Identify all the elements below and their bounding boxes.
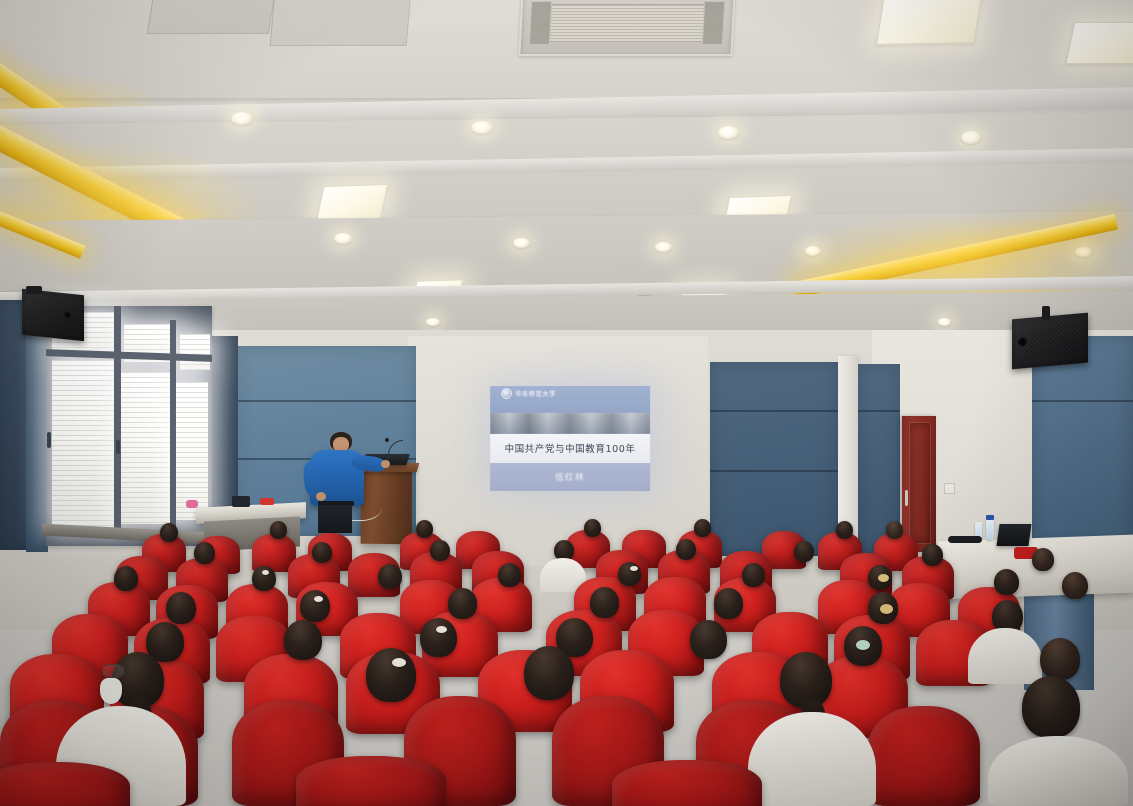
university-logo: 华东师范大学 [501, 388, 556, 399]
audience-head [994, 569, 1019, 595]
audience-head [836, 521, 853, 539]
audience-head [1040, 638, 1080, 680]
lecture-hall-photo: 华东师范大学 中国共产党与中国教育100年 伍红林 [0, 0, 1133, 806]
audience-head [1032, 548, 1054, 571]
audience-head [1062, 572, 1088, 599]
audience-head [714, 588, 743, 619]
hair-clip [392, 658, 406, 667]
panel-light [876, 0, 982, 45]
slide-photo-strip [490, 413, 650, 434]
table-item-pink [186, 500, 198, 508]
hair-scrunchie [880, 604, 893, 614]
downlight [426, 318, 440, 326]
ceiling-access-panel [270, 0, 412, 46]
audience-head [1022, 676, 1080, 738]
hair-clip [436, 626, 447, 633]
audience-head [794, 541, 814, 562]
audience-head [270, 521, 287, 539]
audience-head [420, 618, 457, 657]
panel-light [1066, 22, 1133, 64]
seat [868, 706, 980, 806]
downlight [655, 242, 672, 252]
slide-author: 伍红林 [555, 471, 585, 483]
audience-head [618, 562, 641, 586]
water-bottle [986, 518, 994, 540]
seat [0, 762, 130, 806]
downlight [805, 246, 821, 256]
audience-head [676, 539, 696, 560]
audience-head [742, 563, 765, 587]
microphone-head-icon [385, 438, 389, 442]
slide-title: 中国共产党与中国教育100年 [505, 441, 636, 455]
hair-clip [262, 570, 269, 575]
panel-light [316, 184, 388, 222]
audience-head [194, 542, 215, 564]
ceiling-access-panel [147, 0, 275, 34]
hair-scrunchie [878, 574, 889, 582]
audience-head [448, 588, 477, 619]
downlight [961, 131, 981, 144]
audience-head [886, 521, 903, 539]
window-handle[interactable] [47, 432, 51, 448]
slide-header: 华东师范大学 [490, 386, 650, 413]
audience-head [312, 542, 332, 563]
audience-head [284, 620, 322, 660]
seat [612, 760, 762, 806]
eyeglasses [102, 664, 124, 678]
audience-head [590, 587, 619, 618]
door-handle[interactable] [905, 490, 908, 506]
audience-head [114, 566, 138, 591]
presenter-hand-left [316, 492, 326, 501]
exit-door[interactable] [902, 416, 936, 552]
hair-clip [630, 566, 638, 571]
table-item-red [260, 498, 274, 505]
slide-title-band: 中国共产党与中国教育100年 [490, 434, 650, 462]
counter-laptop [996, 524, 1031, 546]
presenter-hand-right [381, 460, 390, 468]
face-mask [100, 678, 122, 704]
audience-head [498, 563, 521, 587]
downlight [718, 126, 739, 139]
downlight [231, 112, 253, 125]
window-transom [180, 334, 210, 370]
audience-shoulders [968, 628, 1042, 684]
counter-cable [948, 536, 982, 543]
audience-head [416, 520, 433, 538]
hair-clip [314, 596, 323, 602]
seat [296, 756, 446, 806]
audience-head [694, 519, 711, 537]
logo-mark-icon [501, 388, 512, 399]
wall-speaker-right [1012, 313, 1088, 370]
downlight [471, 121, 493, 134]
downlight [1075, 247, 1092, 257]
window-pane [120, 372, 170, 524]
window-pane [52, 360, 114, 528]
audience-head [524, 646, 574, 700]
audience-head [430, 540, 450, 561]
audience-head [300, 590, 330, 622]
downlight [513, 238, 530, 248]
audience-head [378, 564, 402, 589]
table-item-bag [232, 496, 250, 507]
logo-wordmark: 华东师范大学 [515, 389, 556, 398]
audience-head [366, 648, 416, 702]
presenter-pants [318, 505, 352, 533]
light-switch[interactable] [944, 483, 955, 494]
audience-head [584, 519, 601, 537]
wall-speaker-left [22, 289, 84, 342]
hair-scrunchie [856, 640, 870, 650]
audience-head [166, 592, 196, 624]
audience-head [922, 544, 943, 566]
audience-head [690, 620, 727, 659]
wall-panel-right-a [710, 362, 838, 556]
projection-screen: 华东师范大学 中国共产党与中国教育100年 伍红林 [490, 386, 650, 491]
audience-shoulders [988, 736, 1128, 806]
window-handle[interactable] [116, 440, 120, 454]
audience-head [160, 523, 178, 542]
wall-panel-window-left [26, 300, 48, 552]
slide-author-band: 伍红林 [490, 463, 650, 491]
downlight [938, 318, 951, 326]
ceiling-ac-unit [518, 0, 735, 56]
audience-head [780, 652, 832, 708]
downlight [334, 233, 352, 244]
